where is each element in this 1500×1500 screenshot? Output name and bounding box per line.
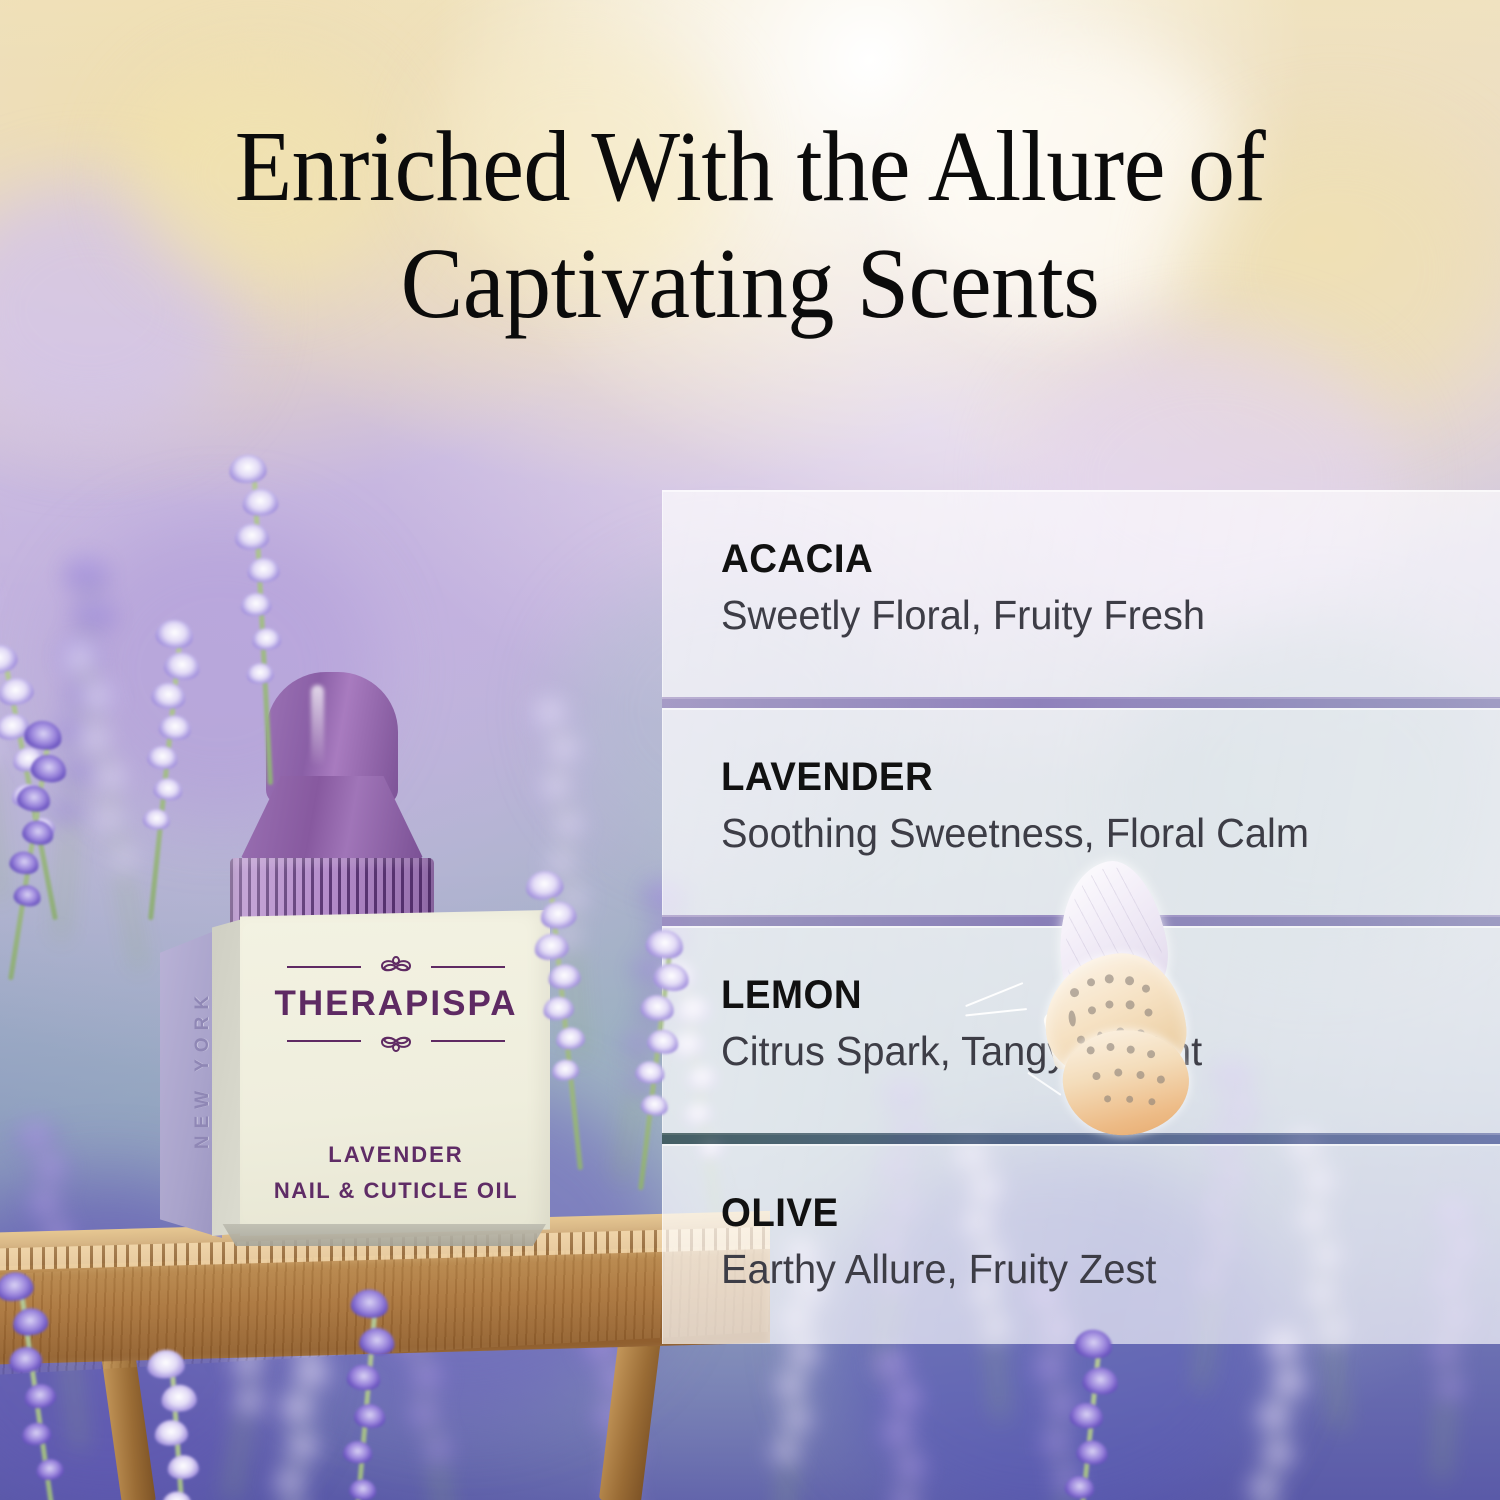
sprig-floret <box>21 1421 53 1447</box>
wing-spot <box>1136 1071 1145 1080</box>
sprig-floret <box>7 1345 44 1375</box>
headline-line-1: Enriched With the Allure of <box>235 110 1266 222</box>
sprig-floret <box>93 763 128 792</box>
sprig-floret <box>247 557 281 583</box>
sprig-floret <box>154 1419 189 1447</box>
product-variant: LAVENDER <box>252 1142 540 1168</box>
sprig-floret <box>408 1401 440 1428</box>
sprig-floret <box>533 932 570 961</box>
sprig-floret <box>894 1454 927 1481</box>
sprig-floret <box>0 1270 35 1304</box>
wing-spot <box>1144 1008 1153 1017</box>
wing-spot <box>1070 988 1080 998</box>
ornament-rule-left <box>287 1040 361 1042</box>
sprig-floret <box>242 488 279 517</box>
scent-description: Soothing Sweetness, Floral Calm <box>721 810 1309 857</box>
wing-spot <box>1125 976 1135 986</box>
wing-spot <box>1114 1068 1123 1077</box>
sprig-floret <box>1073 1328 1113 1360</box>
sprig-floret <box>279 1394 315 1423</box>
wing-spot <box>1105 1000 1114 1009</box>
flourish-knot-icon <box>367 954 425 980</box>
ornament-bottom <box>252 1028 540 1054</box>
sprig-floret <box>252 627 282 651</box>
sprig-floret <box>524 869 564 901</box>
sprig-floret <box>423 1437 453 1462</box>
sprig-floret <box>8 849 40 876</box>
flourish-knot-icon <box>367 1028 425 1054</box>
sprig-floret <box>31 1153 70 1184</box>
sprig-floret <box>551 1058 580 1081</box>
sprig-floret <box>640 1093 669 1117</box>
sprig-floret <box>146 1348 185 1379</box>
sprig-floret <box>1075 1439 1109 1466</box>
sprig-floret <box>350 1288 390 1320</box>
sprig-floret <box>15 784 52 814</box>
wing-spot <box>1157 1075 1166 1084</box>
sprig-floret <box>21 818 56 846</box>
sprig-floret <box>346 1364 381 1392</box>
sprig-floret <box>771 1440 800 1463</box>
wing-spots <box>1059 1026 1192 1140</box>
sprig-floret <box>886 1383 924 1413</box>
headline-line-2: Captivating Scents <box>53 225 1448 342</box>
sprig-floret <box>142 807 171 830</box>
scent-name: LAVENDER <box>721 755 933 800</box>
wing-spot <box>1148 1098 1155 1105</box>
scent-description: Earthy Allure, Fruity Zest <box>721 1246 1156 1293</box>
sprig-floret <box>160 1383 197 1412</box>
sprig-floret <box>358 1327 396 1357</box>
sprig-floret <box>634 1059 666 1085</box>
bottle-base <box>216 1224 546 1246</box>
sprig-floret <box>240 592 272 617</box>
sprig-floret <box>235 1389 265 1414</box>
sprig-floret <box>154 618 194 650</box>
scent-row[interactable]: ACACIA Sweetly Floral, Fruity Fresh <box>662 490 1500 699</box>
sprig-floret <box>644 928 685 961</box>
sprig-floret <box>410 1362 445 1390</box>
sprig-floret <box>1255 1401 1292 1431</box>
sprig-floret <box>153 777 184 802</box>
page-title: Enriched With the Allure of Captivating … <box>53 108 1448 342</box>
ornament-top <box>252 954 540 980</box>
wing-spot <box>1125 1000 1135 1010</box>
sprig-floret <box>93 806 126 833</box>
scent-description: Sweetly Floral, Fruity Fresh <box>721 592 1205 639</box>
wing-spot <box>1086 1046 1095 1055</box>
sprig-floret <box>646 1028 680 1056</box>
sprig-floret <box>12 884 42 909</box>
sprig-floret <box>547 963 582 991</box>
sprig-floret <box>1436 1376 1464 1399</box>
sprig-floret <box>35 1457 65 1481</box>
sprig-floret <box>76 724 113 755</box>
sprig-floret <box>26 1189 63 1219</box>
brand-name: THERAPISPA <box>252 984 540 1024</box>
wing-spot <box>1147 1050 1156 1059</box>
sprig-floret <box>889 1490 920 1500</box>
sprig-floret <box>292 1357 330 1388</box>
sprig-floret <box>652 962 690 993</box>
sprig-floret <box>167 1454 200 1480</box>
sprig-floret <box>871 1349 911 1381</box>
bottle-body: NEW YORK <box>160 904 560 1242</box>
sprig-floret <box>353 1402 386 1429</box>
sprig-floret <box>542 995 575 1021</box>
sprig-floret <box>639 994 675 1023</box>
sprig-floret <box>163 651 201 682</box>
sprig-floret <box>286 1433 320 1460</box>
sprig-floret <box>228 453 267 484</box>
scent-row[interactable]: OLIVE Earthy Allure, Fruity Zest <box>662 1144 1500 1344</box>
sprig-floret <box>23 1382 57 1410</box>
row-divider <box>662 697 1500 708</box>
wing-spot <box>1088 1006 1097 1015</box>
wing-spot <box>1104 974 1114 984</box>
origin-text: NEW YORK <box>192 974 214 1164</box>
sprig-floret <box>75 599 113 629</box>
sprig-floret <box>16 1120 57 1153</box>
sprig-floret <box>158 714 193 742</box>
wing-spot <box>1068 1010 1077 1027</box>
wing-spot <box>1126 1096 1133 1103</box>
sprig-floret <box>1261 1439 1295 1467</box>
wing-spot <box>1126 1045 1135 1054</box>
scent-name: ACACIA <box>721 537 873 582</box>
wing-spot <box>1104 1095 1111 1102</box>
product-type: NAIL & CUTICLE OIL <box>252 1178 540 1204</box>
product-label: THERAPISPA LAVENDER NAIL & CUTICLE O <box>252 954 540 1204</box>
sprig-floret <box>1248 1474 1280 1500</box>
ornament-rule-left <box>287 966 361 968</box>
wing-spot <box>1087 978 1096 987</box>
sprig-floret <box>555 1026 586 1051</box>
sprig-floret <box>1081 1366 1119 1397</box>
butterfly-icon <box>1005 862 1210 1137</box>
scent-name: LEMON <box>721 973 862 1018</box>
sprig-floret <box>234 523 269 551</box>
sprig-floret <box>1069 1401 1105 1430</box>
sprig-floret <box>781 1407 812 1431</box>
sprig-floret <box>275 1469 306 1494</box>
sprig-floret <box>775 1373 807 1399</box>
wing-spot <box>1142 984 1151 993</box>
sprig-floret <box>1033 1354 1068 1382</box>
ornament-rule-right <box>431 1040 505 1042</box>
sprig-floret <box>150 681 187 710</box>
sprig-floret <box>342 1440 373 1465</box>
butterfly-lower-wing <box>1059 1026 1192 1140</box>
sprig-floret <box>67 558 107 590</box>
sprig-floret <box>539 899 577 930</box>
product-bottle: NEW YORK <box>160 672 560 1242</box>
wing-spot <box>1092 1072 1101 1081</box>
wing-spot <box>1106 1043 1115 1052</box>
sprig-floret <box>880 1419 915 1447</box>
sprig-stem <box>348 1291 379 1500</box>
ornament-rule-right <box>431 966 505 968</box>
sprig-floret <box>348 1478 377 1500</box>
sprig-floret <box>1064 1474 1095 1499</box>
sprig-floret <box>246 662 274 684</box>
sprig-floret <box>161 1490 192 1500</box>
scent-name: OLIVE <box>721 1191 839 1236</box>
product-marketing-image: NEW YORK <box>0 0 1500 1500</box>
sprig-floret <box>146 744 179 770</box>
